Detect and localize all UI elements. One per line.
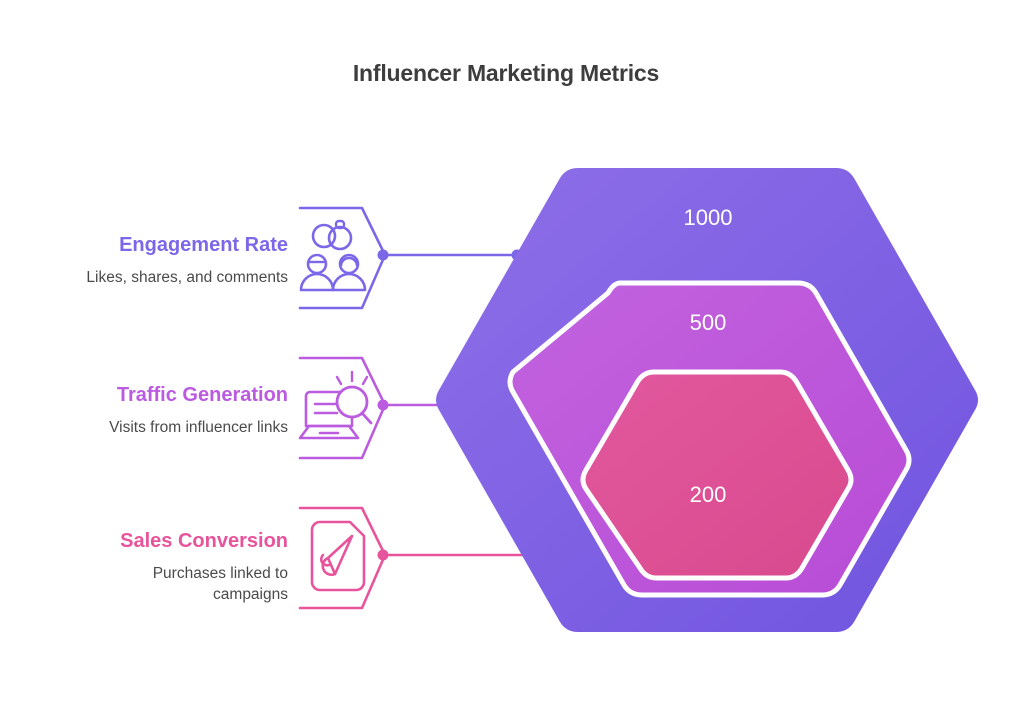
hexagon-inner[interactable] [583,372,851,578]
metric-description-sales-conversion: Purchases linked to campaigns [88,563,288,605]
metric-item-engagement-rate[interactable]: Engagement Rate Likes, shares, and comme… [0,198,400,318]
metric-text-block: Engagement Rate Likes, shares, and comme… [16,232,288,288]
metric-description-engagement-rate: Likes, shares, and comments [16,267,288,288]
hexagon-value-middle: 500 [628,310,788,336]
metric-label-traffic-generation: Traffic Generation [16,382,288,408]
people-share-icon [292,198,400,318]
hexagon-value-outer: 1000 [628,205,788,231]
metric-item-traffic-generation[interactable]: Traffic Generation Visits from influence… [0,348,400,468]
metric-label-sales-conversion: Sales Conversion [16,528,288,554]
metric-label-engagement-rate: Engagement Rate [16,232,288,258]
metric-text-block: Sales Conversion Purchases linked to cam… [16,528,288,605]
laptop-search-icon [292,348,400,468]
metric-item-sales-conversion[interactable]: Sales Conversion Purchases linked to cam… [0,498,400,618]
megaphone-icon [292,498,400,618]
hexagon-value-inner: 200 [628,482,788,508]
infographic-canvas: Influencer Marketing Metrics Engagement … [0,0,1012,708]
metric-description-traffic-generation: Visits from influencer links [16,417,288,438]
metric-text-block: Traffic Generation Visits from influence… [16,382,288,438]
nested-hexagon-chart: 1000 500 200 [430,150,1000,670]
